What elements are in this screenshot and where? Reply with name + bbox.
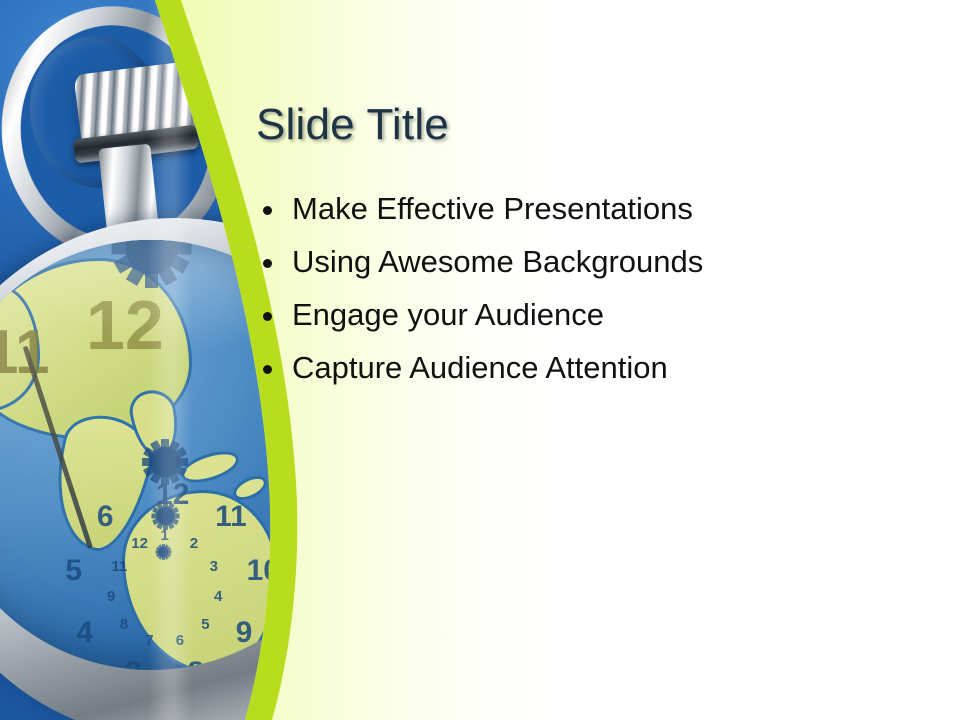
slide-title: Slide Title [256,100,449,150]
bullet-item: Engage your Audience [258,292,898,345]
photo-reflection-band [148,0,192,720]
bullet-item: Using Awesome Backgrounds [258,239,898,292]
slide-bullet-list: Make Effective Presentations Using Aweso… [258,186,898,398]
bullet-item: Make Effective Presentations [258,186,898,239]
presentation-slide: 121110982456 1234567891112 12 11 10 9 Sl… [0,0,960,720]
bullet-item: Capture Audience Attention [258,345,898,398]
